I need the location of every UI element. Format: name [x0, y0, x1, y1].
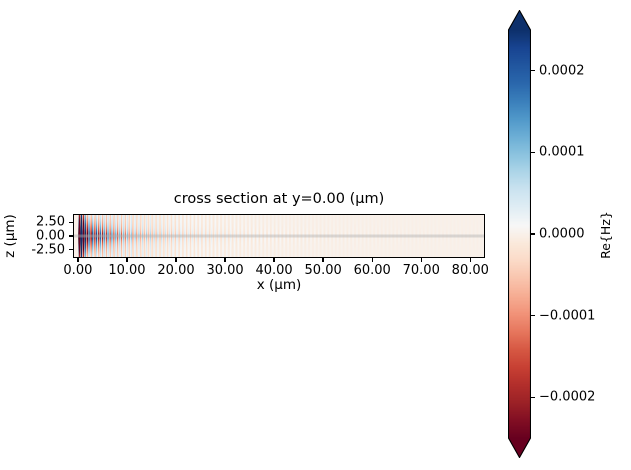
figure-canvas: cross section at y=0.00 (μm) 0.0010.0020… [0, 0, 631, 470]
x-tick-mark [273, 258, 274, 262]
field-heatmap [73, 214, 485, 258]
y-axis-label: z (μm) [0, 214, 32, 258]
x-axis-label: x (μm) [73, 277, 485, 293]
x-tick-mark [77, 258, 78, 262]
x-tick-mark [175, 258, 176, 262]
colorbar-tick-label: 0.0002 [539, 63, 585, 78]
x-tick-label: 80.00 [452, 263, 489, 278]
y-tick-mark [69, 222, 73, 223]
colorbar-tick-mark [531, 397, 535, 398]
colorbar-tick-mark [531, 152, 535, 153]
y-tick-label: -2.50 [31, 242, 65, 257]
main-axes[interactable] [73, 214, 485, 258]
x-tick-mark [126, 258, 127, 262]
x-tick-label: 0.00 [63, 263, 92, 278]
x-tick-label: 60.00 [354, 263, 391, 278]
x-tick-mark [322, 258, 323, 262]
colorbar-tick-mark [531, 233, 535, 234]
plot-title: cross section at y=0.00 (μm) [73, 190, 485, 208]
colorbar-tick-mark [531, 70, 535, 71]
x-tick-label: 40.00 [255, 263, 292, 278]
x-tick-label: 70.00 [403, 263, 440, 278]
y-tick-mark [69, 235, 73, 236]
colorbar-ticks: 0.00020.00010.0000−0.0001−0.0002 [508, 10, 531, 458]
colorbar-tick-mark [531, 315, 535, 316]
x-tick-label: 30.00 [206, 263, 243, 278]
colorbar-tick-label: −0.0002 [539, 390, 595, 405]
x-tick-mark [421, 258, 422, 262]
y-tick-label: 0.00 [36, 229, 65, 244]
y-tick-label: 2.50 [36, 215, 65, 230]
colorbar-label: Re{Hz} [580, 205, 630, 265]
x-tick-label: 10.00 [108, 263, 145, 278]
colorbar-tick-label: 0.0001 [539, 145, 585, 160]
y-tick-mark [69, 249, 73, 250]
colorbar-tick-label: −0.0001 [539, 308, 595, 323]
x-tick-mark [224, 258, 225, 262]
colorbar-tick-label: 0.0000 [539, 227, 585, 242]
x-tick-mark [372, 258, 373, 262]
x-tick-label: 20.00 [157, 263, 194, 278]
x-tick-label: 50.00 [305, 263, 342, 278]
x-tick-mark [470, 258, 471, 262]
